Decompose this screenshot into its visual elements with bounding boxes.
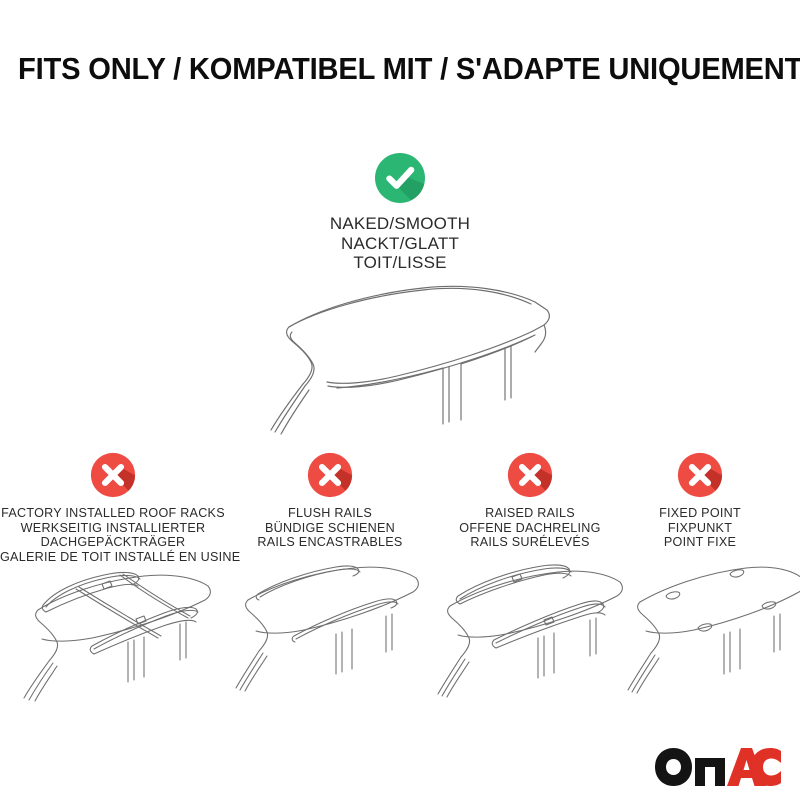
cross-circle-icon: [307, 452, 353, 498]
label-en: RAISED RAILS: [428, 506, 632, 521]
check-circle-icon: [374, 152, 426, 204]
approved-labels: NAKED/SMOOTH NACKT/GLATT TOIT/LISSE: [0, 214, 800, 273]
roof-type-raised-rails: RAISED RAILS OFFENE DACHRELING RAILS SUR…: [428, 452, 632, 550]
car-roof-flush-rails-illustration: [228, 548, 432, 703]
label-en: FACTORY INSTALLED ROOF RACKS: [0, 506, 226, 521]
label-de: FIXPUNKT: [620, 521, 780, 536]
cross-circle-icon: [507, 452, 553, 498]
approved-label-en: NAKED/SMOOTH: [0, 214, 800, 234]
page-title: FITS ONLY / KOMPATIBEL MIT / S'ADAPTE UN…: [18, 52, 782, 87]
logo-letter-m: [695, 758, 725, 786]
cross-circle-icon: [677, 452, 723, 498]
roof-type-fixed-point: FIXED POINT FIXPUNKT POINT FIXE: [620, 452, 780, 550]
car-roof-naked-smooth-illustration: [247, 272, 583, 437]
incompatible-roof-types: FACTORY INSTALLED ROOF RACKS WERKSEITIG …: [0, 452, 800, 792]
roof-type-labels: FLUSH RAILS BÜNDIGE SCHIENEN RAILS ENCAS…: [228, 506, 432, 550]
label-de: OFFENE DACHRELING: [428, 521, 632, 536]
car-roof-factory-racks-illustration: [8, 548, 226, 703]
logo-letter-o: [655, 748, 692, 786]
roof-type-factory-installed-roof-racks: FACTORY INSTALLED ROOF RACKS WERKSEITIG …: [0, 452, 226, 564]
approved-roof-type: NAKED/SMOOTH NACKT/GLATT TOIT/LISSE: [0, 152, 800, 273]
car-roof-raised-rails-illustration: [424, 544, 636, 702]
omac-logo: [653, 746, 783, 788]
cross-circle-icon: [90, 452, 136, 498]
label-de: BÜNDIGE SCHIENEN: [228, 521, 432, 536]
label-en: FLUSH RAILS: [228, 506, 432, 521]
label-en: FIXED POINT: [620, 506, 780, 521]
label-de-line1: WERKSEITIG INSTALLIERTER: [0, 521, 226, 536]
approved-label-fr: TOIT/LISSE: [0, 253, 800, 273]
car-roof-fixed-point-illustration: [612, 544, 800, 702]
roof-type-flush-rails: FLUSH RAILS BÜNDIGE SCHIENEN RAILS ENCAS…: [228, 452, 432, 550]
approved-label-de: NACKT/GLATT: [0, 234, 800, 254]
